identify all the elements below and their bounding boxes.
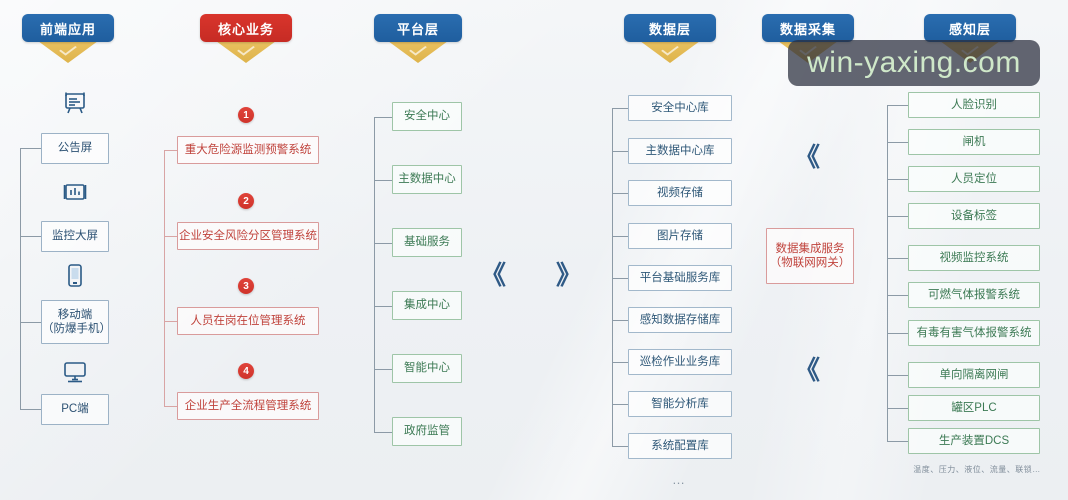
branch-perception-2 xyxy=(887,142,908,143)
box-platform-6[interactable]: 政府监管 xyxy=(392,417,462,446)
box-perception-2[interactable]: 闸机 xyxy=(908,129,1040,155)
branch-perception-9 xyxy=(887,408,908,409)
box-platform-5[interactable]: 智能中心 xyxy=(392,354,462,383)
branch-perception-6 xyxy=(887,295,908,296)
branch-data-5 xyxy=(612,278,628,279)
flow-arrow-left-icon: 《 xyxy=(480,263,506,289)
branch-data-9 xyxy=(612,446,628,447)
dashboard-screen-icon xyxy=(62,180,88,206)
marker-core-2: 2 xyxy=(238,193,254,209)
branch-data-6 xyxy=(612,320,628,321)
column-header-core-business[interactable]: 核心业务 xyxy=(200,14,292,42)
trunk-platform xyxy=(374,117,375,433)
box-data-1[interactable]: 安全中心库 xyxy=(628,95,732,121)
marker-core-1: 1 xyxy=(238,107,254,123)
box-perception-9[interactable]: 罐区PLC xyxy=(908,395,1040,421)
box-frontend-4[interactable]: PC端 xyxy=(41,394,109,425)
box-perception-5[interactable]: 视频监控系统 xyxy=(908,245,1040,271)
box-data-9[interactable]: 系统配置库 xyxy=(628,433,732,459)
watermark-overlay: win-yaxing.com xyxy=(788,40,1040,86)
branch-perception-7 xyxy=(887,333,908,334)
branch-data-1 xyxy=(612,108,628,109)
branch-platform-2 xyxy=(374,180,392,181)
collection-arrow-up-icon: 《 xyxy=(794,145,820,171)
branch-platform-5 xyxy=(374,369,392,370)
data-ellipsis: … xyxy=(672,472,687,487)
box-data-5[interactable]: 平台基础服务库 xyxy=(628,265,732,291)
branch-frontend-3 xyxy=(20,322,41,323)
trunk-perception xyxy=(887,105,888,442)
box-data-6[interactable]: 感知数据存储库 xyxy=(628,307,732,333)
branch-data-4 xyxy=(612,236,628,237)
marker-core-3: 3 xyxy=(238,278,254,294)
marker-core-4: 4 xyxy=(238,363,254,379)
column-header-frontend[interactable]: 前端应用 xyxy=(22,14,114,42)
box-platform-2[interactable]: 主数据中心 xyxy=(392,165,462,194)
box-perception-7[interactable]: 有毒有害气体报警系统 xyxy=(908,320,1040,346)
trunk-data xyxy=(612,108,613,446)
trunk-core-business xyxy=(164,150,165,406)
column-header-collection[interactable]: 数据采集 xyxy=(762,14,854,42)
box-frontend-1[interactable]: 公告屏 xyxy=(41,133,109,164)
box-data-2[interactable]: 主数据中心库 xyxy=(628,138,732,164)
branch-core-4 xyxy=(164,406,177,407)
box-perception-1[interactable]: 人脸识别 xyxy=(908,92,1040,118)
box-frontend-3-line2: （防爆手机） xyxy=(42,322,108,336)
box-platform-3[interactable]: 基础服务 xyxy=(392,228,462,257)
branch-frontend-4 xyxy=(20,409,41,410)
box-collection-gateway[interactable]: 数据集成服务 （物联网网关） xyxy=(766,228,854,284)
branch-core-1 xyxy=(164,150,177,151)
box-core-3[interactable]: 人员在岗在位管理系统 xyxy=(177,307,319,335)
branch-perception-5 xyxy=(887,258,908,259)
bulletin-board-icon xyxy=(62,90,88,116)
branch-perception-8 xyxy=(887,375,908,376)
branch-perception-10 xyxy=(887,441,908,442)
branch-perception-1 xyxy=(887,105,908,106)
branch-data-7 xyxy=(612,362,628,363)
branch-platform-1 xyxy=(374,117,392,118)
box-data-3[interactable]: 视频存储 xyxy=(628,180,732,206)
box-data-8[interactable]: 智能分析库 xyxy=(628,391,732,417)
column-header-data[interactable]: 数据层 xyxy=(624,14,716,42)
box-core-2[interactable]: 企业安全风险分区管理系统 xyxy=(177,222,319,250)
box-data-7[interactable]: 巡检作业业务库 xyxy=(628,349,732,375)
box-collection-line2: （物联网网关） xyxy=(770,256,851,270)
box-perception-8[interactable]: 单向隔离网闸 xyxy=(908,362,1040,388)
box-data-4[interactable]: 图片存储 xyxy=(628,223,732,249)
mobile-phone-icon xyxy=(64,262,86,292)
branch-data-2 xyxy=(612,151,628,152)
column-header-platform[interactable]: 平台层 xyxy=(374,14,462,42)
trunk-frontend xyxy=(20,148,21,410)
branch-data-8 xyxy=(612,404,628,405)
branch-perception-4 xyxy=(887,216,908,217)
box-collection-line1: 数据集成服务 xyxy=(776,242,845,256)
box-platform-4[interactable]: 集成中心 xyxy=(392,291,462,320)
branch-data-3 xyxy=(612,193,628,194)
branch-platform-6 xyxy=(374,432,392,433)
desktop-monitor-icon xyxy=(61,360,89,384)
branch-platform-4 xyxy=(374,306,392,307)
branch-core-3 xyxy=(164,321,177,322)
box-perception-10[interactable]: 生产装置DCS xyxy=(908,428,1040,454)
branch-platform-3 xyxy=(374,243,392,244)
box-frontend-3[interactable]: 移动端 （防爆手机） xyxy=(41,300,109,344)
branch-frontend-2 xyxy=(20,236,41,237)
column-header-perception[interactable]: 感知层 xyxy=(924,14,1016,42)
diagram-canvas: 前端应用 核心业务 平台层 数据层 数据采集 感知层 公告屏 xyxy=(0,0,1068,500)
box-platform-1[interactable]: 安全中心 xyxy=(392,102,462,131)
branch-perception-3 xyxy=(887,179,908,180)
collection-arrow-down-icon: 《 xyxy=(794,358,820,384)
perception-footnote: 温度、压力、液位、流量、联锁… xyxy=(912,464,1042,475)
box-perception-6[interactable]: 可燃气体报警系统 xyxy=(908,282,1040,308)
branch-core-2 xyxy=(164,236,177,237)
flow-arrow-right-icon: 》 xyxy=(556,263,582,289)
box-frontend-3-line1: 移动端 xyxy=(58,308,93,322)
branch-frontend-1 xyxy=(20,148,41,149)
box-perception-3[interactable]: 人员定位 xyxy=(908,166,1040,192)
box-core-1[interactable]: 重大危险源监测预警系统 xyxy=(177,136,319,164)
box-core-4[interactable]: 企业生产全流程管理系统 xyxy=(177,392,319,420)
box-frontend-2[interactable]: 监控大屏 xyxy=(41,221,109,252)
box-perception-4[interactable]: 设备标签 xyxy=(908,203,1040,229)
